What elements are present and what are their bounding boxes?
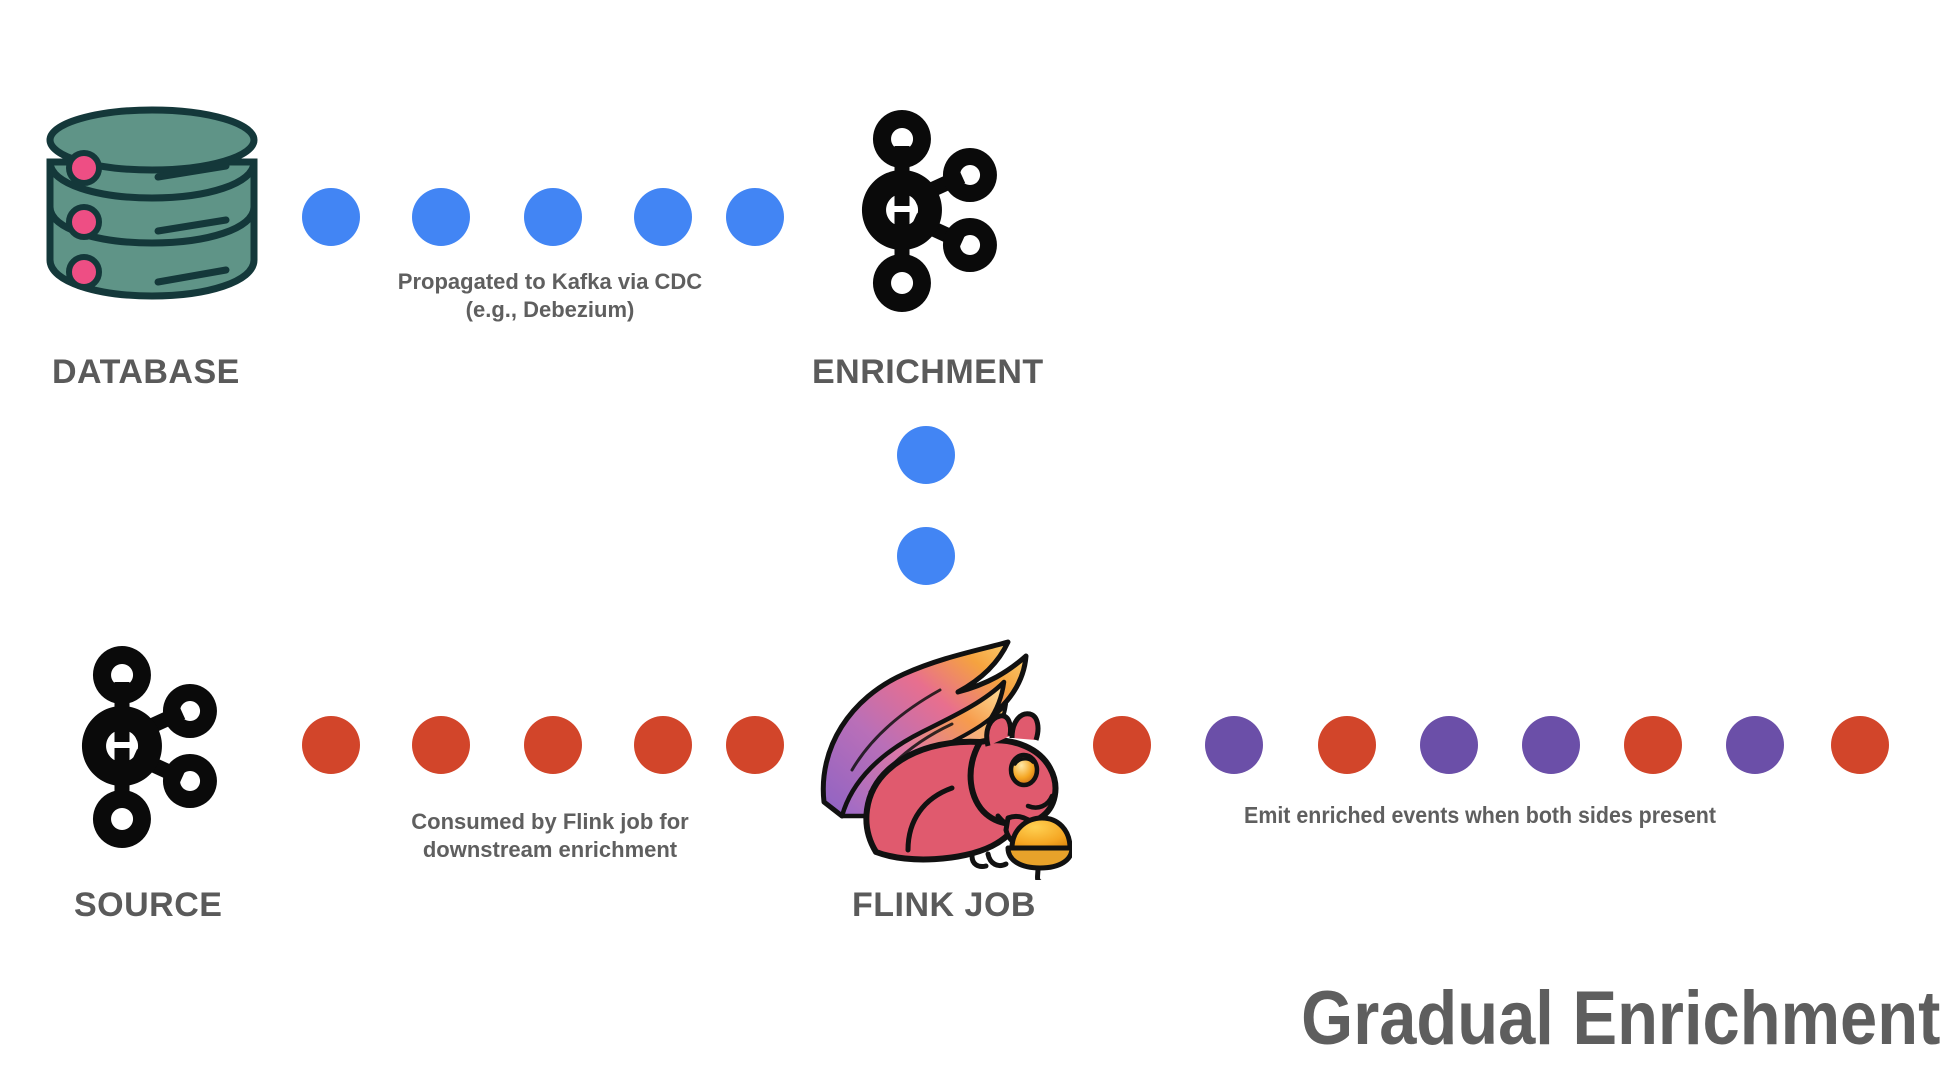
event-dot-red — [1624, 716, 1682, 774]
kafka-icon — [72, 638, 232, 850]
page-title: Gradual Enrichment — [1301, 975, 1940, 1062]
event-dot-red — [524, 716, 582, 774]
diagram-canvas: DATABASE Propagated to Kafka via CDC (e.… — [0, 0, 1958, 1082]
caption-cdc: Propagated to Kafka via CDC (e.g., Debez… — [320, 268, 780, 324]
flink-squirrel-icon — [812, 620, 1072, 880]
event-dot-red — [302, 716, 360, 774]
caption-consumed: Consumed by Flink job for downstream enr… — [330, 808, 770, 864]
event-dot-purple — [1420, 716, 1478, 774]
event-dot-blue — [634, 188, 692, 246]
node-label-source: SOURCE — [74, 886, 222, 925]
node-label-enrichment: ENRICHMENT — [812, 353, 1044, 392]
event-dot-blue — [897, 426, 955, 484]
node-label-flink-job: FLINK JOB — [852, 886, 1036, 925]
event-dot-red — [726, 716, 784, 774]
event-dot-blue — [726, 188, 784, 246]
event-dot-purple — [1726, 716, 1784, 774]
event-dot-red — [634, 716, 692, 774]
event-dot-blue — [302, 188, 360, 246]
event-dot-red — [1318, 716, 1376, 774]
caption-emit: Emit enriched events when both sides pre… — [1155, 802, 1806, 829]
event-dot-red — [1831, 716, 1889, 774]
event-dot-purple — [1205, 716, 1263, 774]
node-label-database: DATABASE — [52, 353, 240, 392]
kafka-icon — [852, 102, 1012, 314]
event-dot-blue — [412, 188, 470, 246]
event-dot-blue — [897, 527, 955, 585]
event-dot-red — [412, 716, 470, 774]
event-dot-red — [1093, 716, 1151, 774]
database-icon — [40, 100, 264, 300]
event-dot-purple — [1522, 716, 1580, 774]
event-dot-blue — [524, 188, 582, 246]
